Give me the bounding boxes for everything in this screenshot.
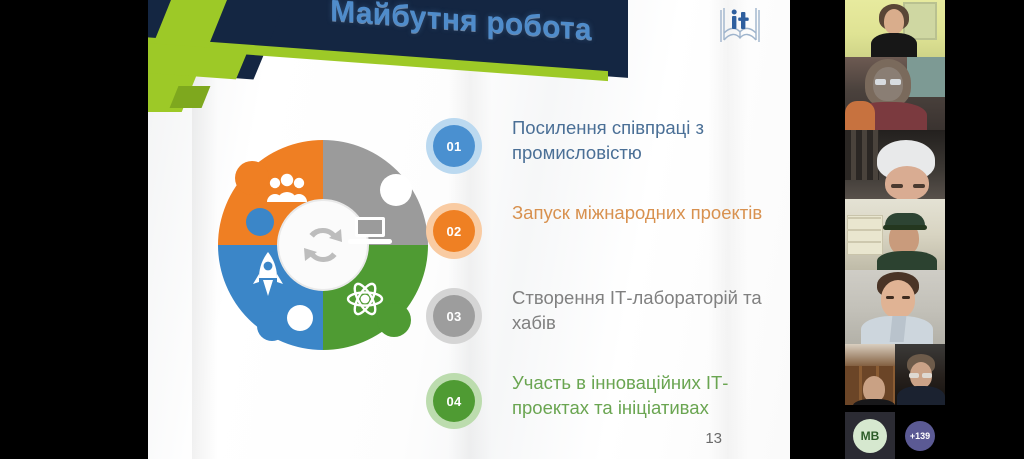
list-item[interactable]: 03 Створення ІТ-лабораторій та хабів [426,285,776,370]
sync-refresh-icon [295,217,351,273]
list-badge-ring: 03 [426,288,482,344]
participant-tile[interactable] [845,130,945,199]
overflow-participants-tile[interactable]: +139 [895,412,945,459]
list-item[interactable]: 01 Посилення співпраці з промисловістю [426,115,776,200]
rocket-icon [252,250,284,298]
list-item-text: Посилення співпраці з промисловістю [512,115,774,165]
list-badge-ring: 02 [426,203,482,259]
list-item[interactable]: 02 Запуск міжнародних проектів [426,200,776,285]
list-badge-number: 01 [433,125,475,167]
list-badge-number: 03 [433,295,475,337]
participant-tile[interactable] [845,199,945,270]
list-item[interactable]: 04 Участь в інноваційних ІТ-проектах та … [426,370,776,455]
puzzle-wheel-diagram [208,130,438,360]
list-item-text: Створення ІТ-лабораторій та хабів [512,285,774,335]
participant-avatar-tile[interactable]: МВ [845,412,895,459]
list-badge-ring: 04 [426,373,482,429]
list-item-text: Запуск міжнародних проектів [512,200,774,225]
list-badge-number: 04 [433,380,475,422]
participant-tile[interactable] [845,0,945,57]
list-badge-ring: 01 [426,118,482,174]
avatar-row: МВ +139 [845,412,945,459]
participant-video-rail: МВ +139 [845,0,945,459]
slide-header-banner: Майбутня робота [148,0,790,112]
list-badge-number: 02 [433,210,475,252]
participant-tile[interactable] [845,344,895,405]
list-item-text: Участь в інноваційних ІТ-проектах та іні… [512,370,774,420]
participant-tile[interactable] [895,344,945,405]
participant-tile-pair [845,344,945,412]
participant-tile[interactable] [845,57,945,130]
slide-page-number: 13 [705,430,722,447]
it-book-logo [714,2,766,50]
laptop-icon [348,214,392,250]
shared-slide: Майбутня робота [148,0,790,459]
screen: Майбутня робота [0,0,1024,459]
numbered-list: 01 Посилення співпраці з промисловістю 0… [426,115,776,455]
avatar-initials: МВ [853,419,887,453]
overflow-count-badge: +139 [905,421,935,451]
people-icon [266,172,308,204]
atom-icon [346,280,384,318]
participant-tile[interactable] [845,270,945,344]
